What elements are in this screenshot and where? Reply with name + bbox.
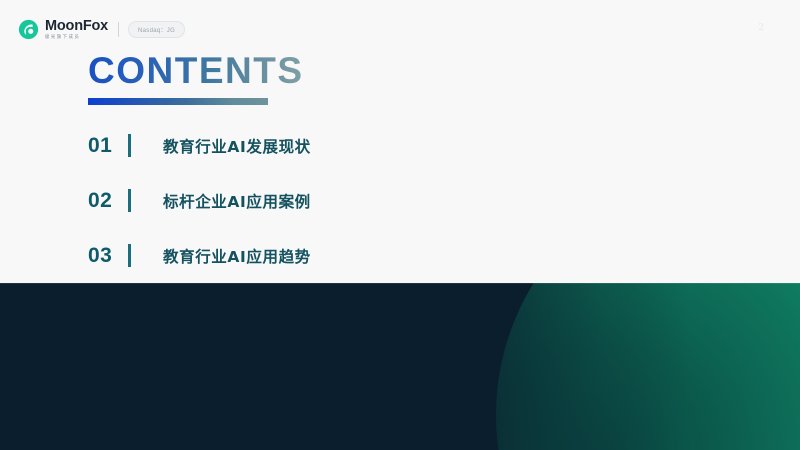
contents-item-label: 教育行业AI应用趋势 <box>163 245 311 267</box>
contents-item-number: 01 <box>88 134 126 158</box>
contents-item-accent-bar <box>128 189 131 212</box>
band-top-highlight-line <box>0 283 800 284</box>
contents-list: 01 教育行业AI发展现状 02 标杆企业AI应用案例 03 教育行业AI应用趋… <box>88 118 508 283</box>
stock-ticker-badge: Nasdaq：JG <box>128 21 185 38</box>
brand-header: MoonFox 极光旗下成员 Nasdaq：JG <box>18 16 185 42</box>
bottom-decorative-band <box>0 283 800 450</box>
contents-item-number: 03 <box>88 244 126 268</box>
contents-item-accent-bar <box>128 244 131 267</box>
contents-item-03[interactable]: 03 教育行业AI应用趋势 <box>88 228 508 283</box>
title-area: CONTENTS <box>88 52 304 105</box>
contents-item-accent-bar <box>128 134 131 157</box>
contents-item-label: 教育行业AI发展现状 <box>163 135 311 157</box>
title-underline-bar <box>88 98 268 105</box>
contents-item-01[interactable]: 01 教育行业AI发展现状 <box>88 118 508 173</box>
slide-canvas: MoonFox 极光旗下成员 Nasdaq：JG 2 CONTENTS 01 教… <box>0 0 800 450</box>
header-divider <box>118 22 119 37</box>
green-gradient-blob <box>496 283 800 450</box>
brand-text-block: MoonFox 极光旗下成员 <box>45 19 108 40</box>
page-title: CONTENTS <box>88 52 304 89</box>
contents-item-number: 02 <box>88 189 126 213</box>
brand-subtitle: 极光旗下成员 <box>45 35 108 39</box>
contents-item-02[interactable]: 02 标杆企业AI应用案例 <box>88 173 508 228</box>
brand-name: MoonFox <box>45 19 108 34</box>
contents-item-label: 标杆企业AI应用案例 <box>163 190 311 212</box>
moonfox-logo-icon <box>18 19 39 40</box>
page-number: 2 <box>759 21 765 33</box>
